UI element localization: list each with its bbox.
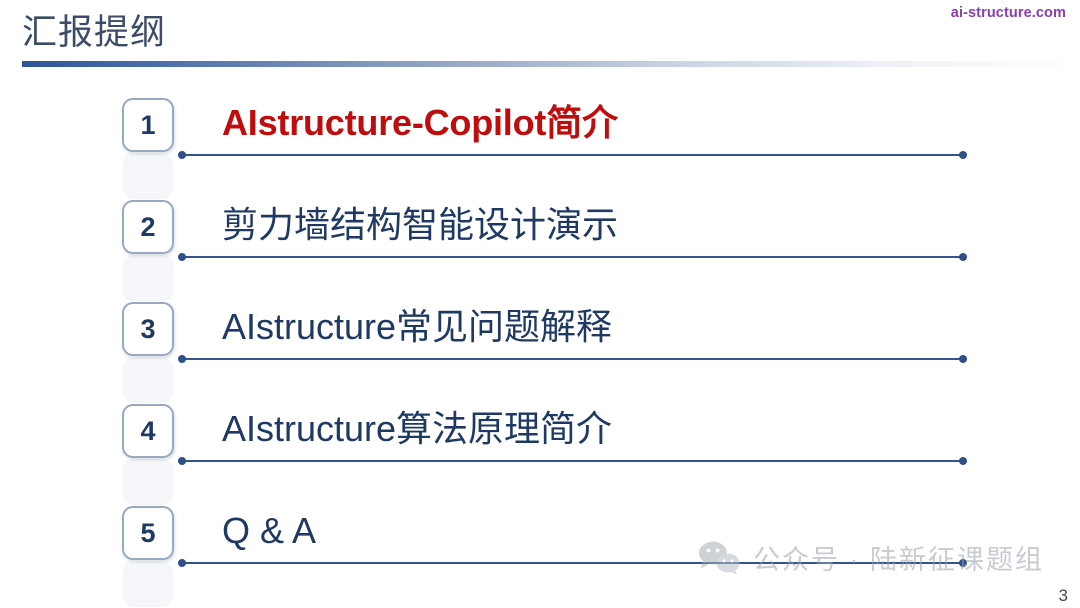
agenda-item-1[interactable]: 1 AIstructure-Copilot简介 [0, 92, 1080, 194]
page-title: 汇报提纲 [22, 10, 166, 56]
agenda-number: 4 [124, 406, 172, 456]
site-watermark: ai-structure.com [951, 5, 1066, 21]
agenda-number: 5 [124, 508, 172, 558]
agenda-item-label: AIstructure算法原理简介 [222, 398, 612, 460]
badge-shadow-echo [124, 358, 172, 402]
agenda-item-label: AIstructure-Copilot简介 [222, 92, 618, 154]
badge-shadow-echo [124, 256, 172, 300]
agenda-number-badge: 2 [122, 200, 174, 254]
agenda-item-2[interactable]: 2 剪力墙结构智能设计演示 [0, 194, 1080, 296]
agenda-number-badge: 3 [122, 302, 174, 356]
agenda-item-label: 剪力墙结构智能设计演示 [222, 194, 618, 256]
wechat-watermark: 公众号 · 陆新征课题组 [697, 538, 1044, 577]
agenda-item-4[interactable]: 4 AIstructure算法原理简介 [0, 398, 1080, 500]
agenda-number: 2 [124, 202, 172, 252]
page-number: 3 [1059, 586, 1068, 606]
wechat-icon [697, 541, 743, 575]
agenda-number: 3 [124, 304, 172, 354]
agenda-item-label: Q & A [222, 500, 316, 562]
agenda-list: 1 AIstructure-Copilot简介 2 剪力墙结构智能设计演示 3 … [0, 92, 1080, 602]
badge-shadow-echo [124, 562, 172, 606]
agenda-item-rule [182, 358, 963, 360]
agenda-number: 1 [124, 100, 172, 150]
title-divider [22, 61, 1080, 67]
agenda-number-badge: 4 [122, 404, 174, 458]
agenda-item-rule [182, 460, 963, 462]
wechat-label: 公众号 · 陆新征课题组 [753, 538, 1044, 577]
agenda-item-label: AIstructure常见问题解释 [222, 296, 612, 358]
agenda-item-rule [182, 256, 963, 258]
agenda-item-rule [182, 154, 963, 156]
agenda-number-badge: 1 [122, 98, 174, 152]
agenda-item-3[interactable]: 3 AIstructure常见问题解释 [0, 296, 1080, 398]
slide: ai-structure.com 汇报提纲 1 AIstructure-Copi… [0, 0, 1080, 608]
badge-shadow-echo [124, 460, 172, 504]
badge-shadow-echo [124, 154, 172, 198]
agenda-number-badge: 5 [122, 506, 174, 560]
